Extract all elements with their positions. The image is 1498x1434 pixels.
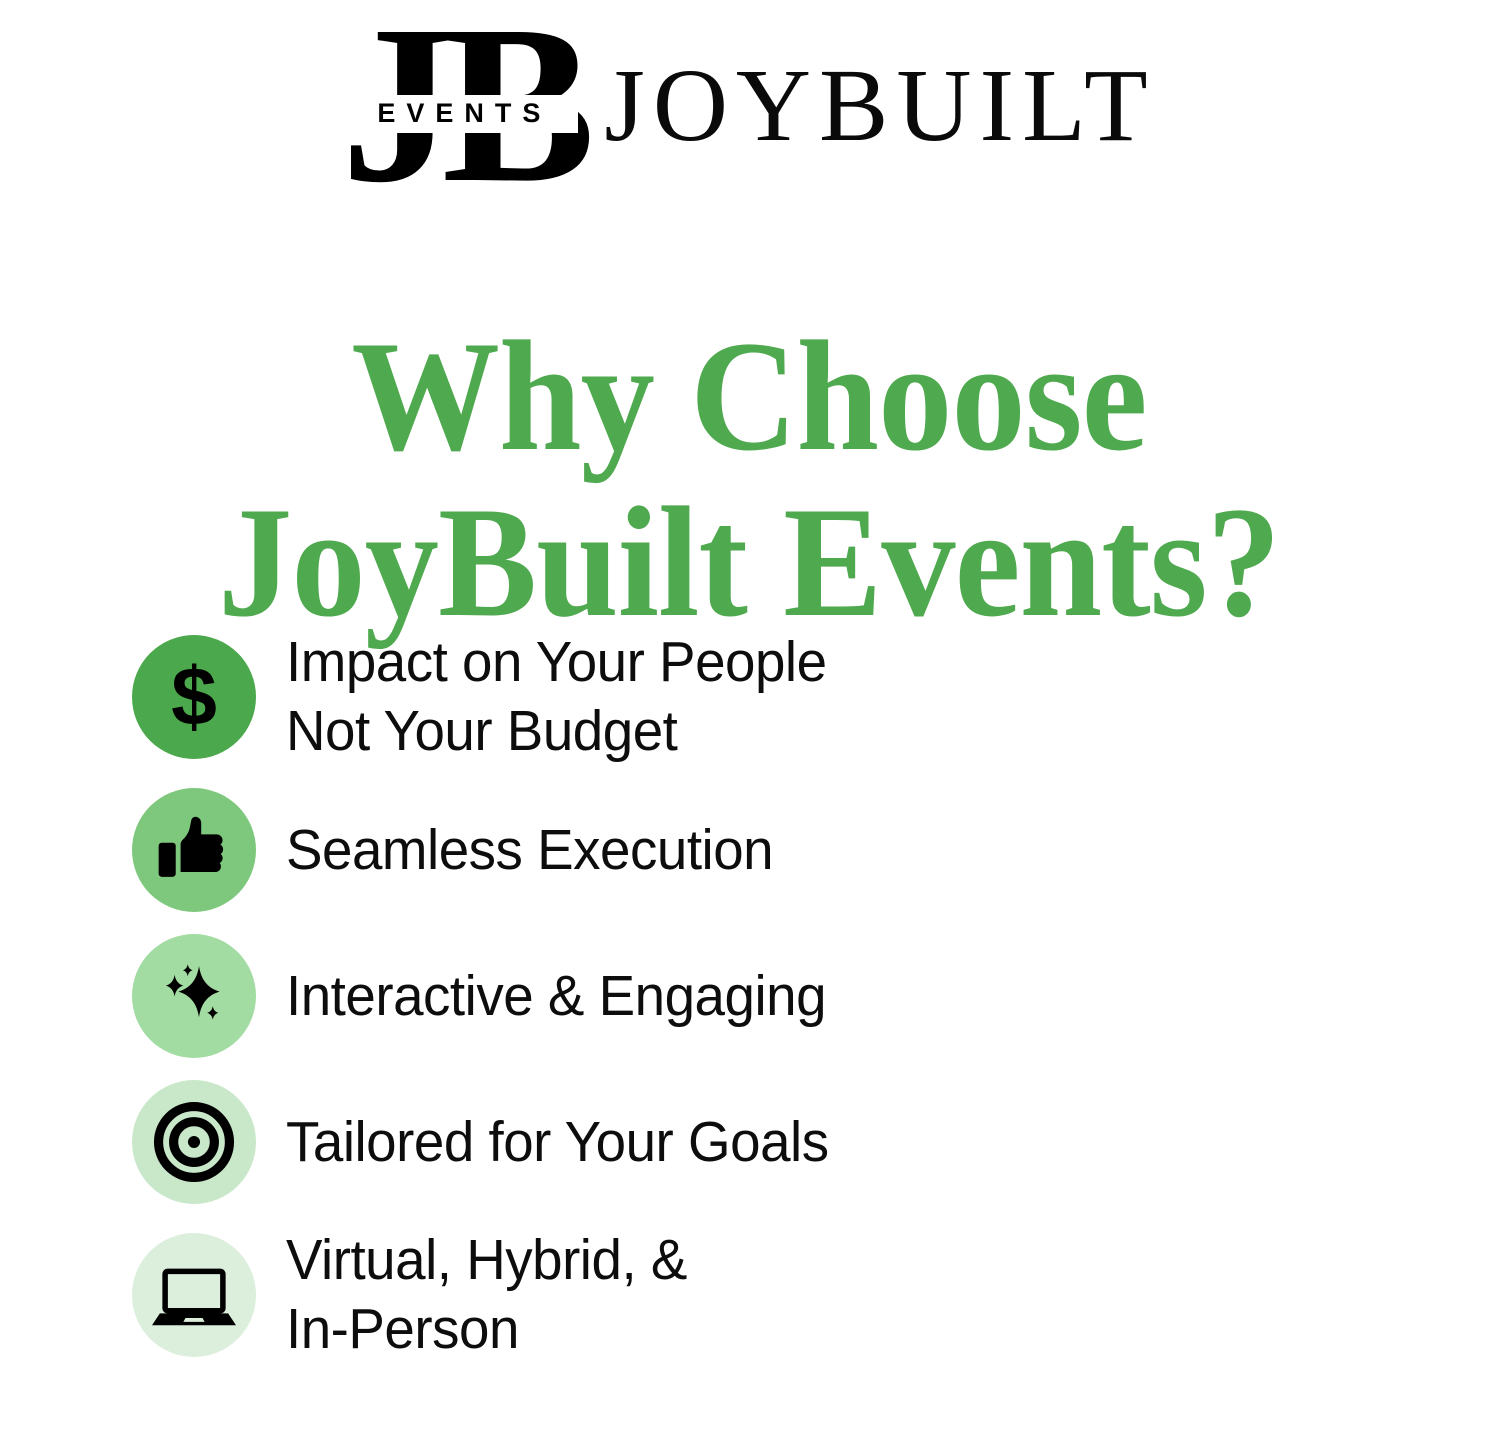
- poster-canvas: JB EVENTS JOYBUILT Why Choose JoyBuilt E…: [0, 0, 1498, 1434]
- page-title-line-2: JoyBuilt Events?: [45, 480, 1453, 646]
- monogram-mark: JB EVENTS: [342, 19, 580, 197]
- brand-logo: JB EVENTS JOYBUILT: [0, 18, 1498, 198]
- list-item-label: Seamless Execution: [286, 816, 773, 885]
- page-title: Why Choose JoyBuilt Events?: [45, 314, 1453, 646]
- sparkles-icon: [132, 934, 256, 1058]
- list-item: Interactive & Engaging: [132, 934, 1282, 1058]
- thumbs-up-icon: [132, 788, 256, 912]
- monogram-events-label: EVENTS: [350, 95, 578, 133]
- list-item-label: Impact on Your People Not Your Budget: [286, 628, 827, 766]
- list-item: Tailored for Your Goals: [132, 1080, 1282, 1204]
- svg-text:$: $: [171, 655, 217, 739]
- dollar-sign-icon: $: [132, 635, 256, 759]
- page-title-line-1: Why Choose: [45, 314, 1453, 480]
- feature-list: $ Impact on Your People Not Your Budget …: [132, 628, 1282, 1364]
- list-item: Seamless Execution: [132, 788, 1282, 912]
- list-item-label: Virtual, Hybrid, & In-Person: [286, 1226, 687, 1364]
- target-icon: [132, 1080, 256, 1204]
- brand-wordmark: JOYBUILT: [604, 54, 1155, 162]
- list-item-label: Interactive & Engaging: [286, 962, 826, 1031]
- laptop-icon: [132, 1233, 256, 1357]
- list-item: $ Impact on Your People Not Your Budget: [132, 628, 1282, 766]
- list-item-label: Tailored for Your Goals: [286, 1108, 829, 1177]
- list-item: Virtual, Hybrid, & In-Person: [132, 1226, 1282, 1364]
